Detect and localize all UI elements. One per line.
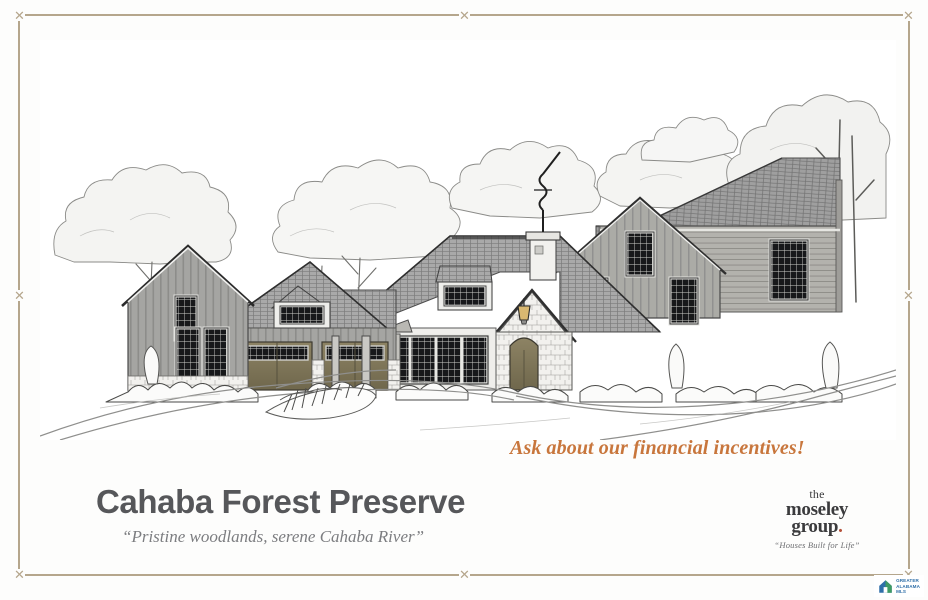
frame-ornament-bottom-left: ✕ <box>14 569 25 580</box>
mls-line-1: GREATER <box>896 578 920 583</box>
mls-badge: GREATER ALABAMA MLS <box>874 575 924 597</box>
financial-incentive-text: Ask about our financial incentives! <box>510 437 805 460</box>
logo-line-group: group. <box>758 518 876 536</box>
frame-ornament-bottom-middle: ✕ <box>459 569 470 580</box>
mls-line-3: MLS <box>896 589 920 594</box>
mls-badge-text: GREATER ALABAMA MLS <box>896 578 920 594</box>
frame-ornament-top-right: ✕ <box>903 10 914 21</box>
frame-ornament-left-middle: ✕ <box>14 290 25 301</box>
moseley-group-logo: the moseley group. “Houses Built for Lif… <box>758 488 876 550</box>
frame-ornament-right-middle: ✕ <box>903 290 914 301</box>
logo-period: . <box>838 516 842 537</box>
dormer-window <box>280 306 324 324</box>
architectural-rendering <box>40 40 896 440</box>
frame-ornament-top-left: ✕ <box>14 10 25 21</box>
center-dormer <box>436 266 492 310</box>
title-block: Cahaba Forest Preserve “Pristine woodlan… <box>96 483 616 547</box>
window <box>770 240 808 300</box>
logo-group-word: group <box>791 516 838 537</box>
house-rendering-illustration <box>40 40 896 440</box>
dormer-window <box>444 286 486 306</box>
house-icon <box>878 579 893 594</box>
logo-tagline: “Houses Built for Life” <box>758 540 876 550</box>
window <box>626 232 654 276</box>
community-tagline: “Pristine woodlands, serene Cahaba River… <box>122 527 616 547</box>
listing-flyer: Ask about our financial incentives! Caha… <box>0 0 928 600</box>
community-name: Cahaba Forest Preserve <box>96 483 616 521</box>
window <box>670 278 698 324</box>
frame-ornament-top-middle: ✕ <box>459 10 470 21</box>
